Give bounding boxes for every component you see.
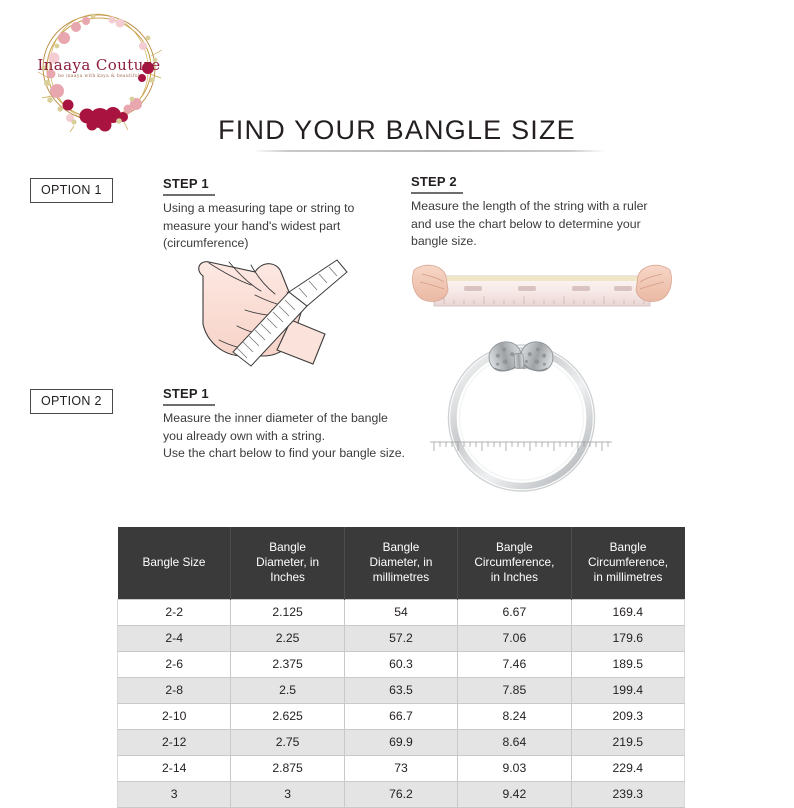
cell-dia-in: 2.75 [231,730,344,756]
cell-circ-mm: 229.4 [571,756,684,782]
cell-circ-in: 9.03 [458,756,571,782]
column-header-circumference-mm: Bangle Circumference, in millimetres [571,527,684,600]
bangle-size-table: Bangle Size Bangle Diameter, in Inches B… [117,527,685,808]
cell-size: 2-8 [118,678,231,704]
cell-dia-in: 2.5 [231,678,344,704]
option1-step1-heading: STEP 1 [163,176,215,196]
hands-holding-ruler-illustration [408,252,676,337]
cell-circ-in: 7.46 [458,652,571,678]
cell-circ-in: 7.85 [458,678,571,704]
cell-dia-mm: 54 [344,600,457,626]
column-header-diameter-inches: Bangle Diameter, in Inches [231,527,344,600]
option-2-badge: OPTION 2 [30,389,113,414]
column-header-diameter-mm: Bangle Diameter, in millimetres [344,527,457,600]
cell-dia-in: 2.375 [231,652,344,678]
cell-dia-mm: 66.7 [344,704,457,730]
brand-logo: Inaaya Couture be inaaya with kaya & bea… [24,8,174,132]
cell-dia-in: 3 [231,782,344,808]
cell-dia-in: 2.875 [231,756,344,782]
cell-circ-mm: 179.6 [571,626,684,652]
cell-dia-in: 2.625 [231,704,344,730]
cell-size: 2-12 [118,730,231,756]
cell-size: 2-2 [118,600,231,626]
cell-circ-in: 6.67 [458,600,571,626]
option1-step2-heading: STEP 2 [411,174,463,194]
hand-with-measuring-tape-illustration [185,248,355,373]
cell-circ-in: 7.06 [458,626,571,652]
cell-circ-in: 9.42 [458,782,571,808]
cell-circ-mm: 219.5 [571,730,684,756]
table-row: 2-2 2.125 54 6.67 169.4 [118,600,685,626]
option1-step1-body: Using a measuring tape or string to meas… [163,200,378,253]
cell-dia-mm: 73 [344,756,457,782]
column-header-bangle-size: Bangle Size [118,527,231,600]
title-divider [253,150,605,152]
cell-dia-mm: 76.2 [344,782,457,808]
silver-bangle-with-ruler-illustration [428,332,614,523]
cell-dia-mm: 69.9 [344,730,457,756]
table-row: 2-8 2.5 63.5 7.85 199.4 [118,678,685,704]
column-header-circumference-inches: Bangle Circumference, in Inches [458,527,571,600]
cell-dia-mm: 60.3 [344,652,457,678]
cell-circ-mm: 189.5 [571,652,684,678]
option2-step1-body: Measure the inner diameter of the bangle… [163,410,408,463]
cell-size: 2-4 [118,626,231,652]
cell-size: 2-6 [118,652,231,678]
table-row: 3 3 76.2 9.42 239.3 [118,782,685,808]
cell-circ-in: 8.64 [458,730,571,756]
cell-circ-mm: 199.4 [571,678,684,704]
table-header-row: Bangle Size Bangle Diameter, in Inches B… [118,527,685,600]
cell-dia-mm: 63.5 [344,678,457,704]
table-body: 2-2 2.125 54 6.67 169.4 2-4 2.25 57.2 7.… [118,600,685,808]
cell-circ-in: 8.24 [458,704,571,730]
cell-dia-mm: 57.2 [344,626,457,652]
option2-step1-heading: STEP 1 [163,386,215,406]
cell-circ-mm: 209.3 [571,704,684,730]
brand-name: Inaaya Couture [24,56,174,74]
cell-size: 3 [118,782,231,808]
cell-size: 2-14 [118,756,231,782]
table-row: 2-6 2.375 60.3 7.46 189.5 [118,652,685,678]
brand-tagline: be inaaya with kaya & beautiful [24,74,174,79]
table-row: 2-14 2.875 73 9.03 229.4 [118,756,685,782]
cell-circ-mm: 169.4 [571,600,684,626]
cell-dia-in: 2.125 [231,600,344,626]
cell-dia-in: 2.25 [231,626,344,652]
table-row: 2-10 2.625 66.7 8.24 209.3 [118,704,685,730]
option1-step2-body: Measure the length of the string with a … [411,198,666,251]
option-1-badge: OPTION 1 [30,178,113,203]
page-title: FIND YOUR BANGLE SIZE [0,115,794,146]
cell-circ-mm: 239.3 [571,782,684,808]
table-row: 2-12 2.75 69.9 8.64 219.5 [118,730,685,756]
cell-size: 2-10 [118,704,231,730]
table-row: 2-4 2.25 57.2 7.06 179.6 [118,626,685,652]
